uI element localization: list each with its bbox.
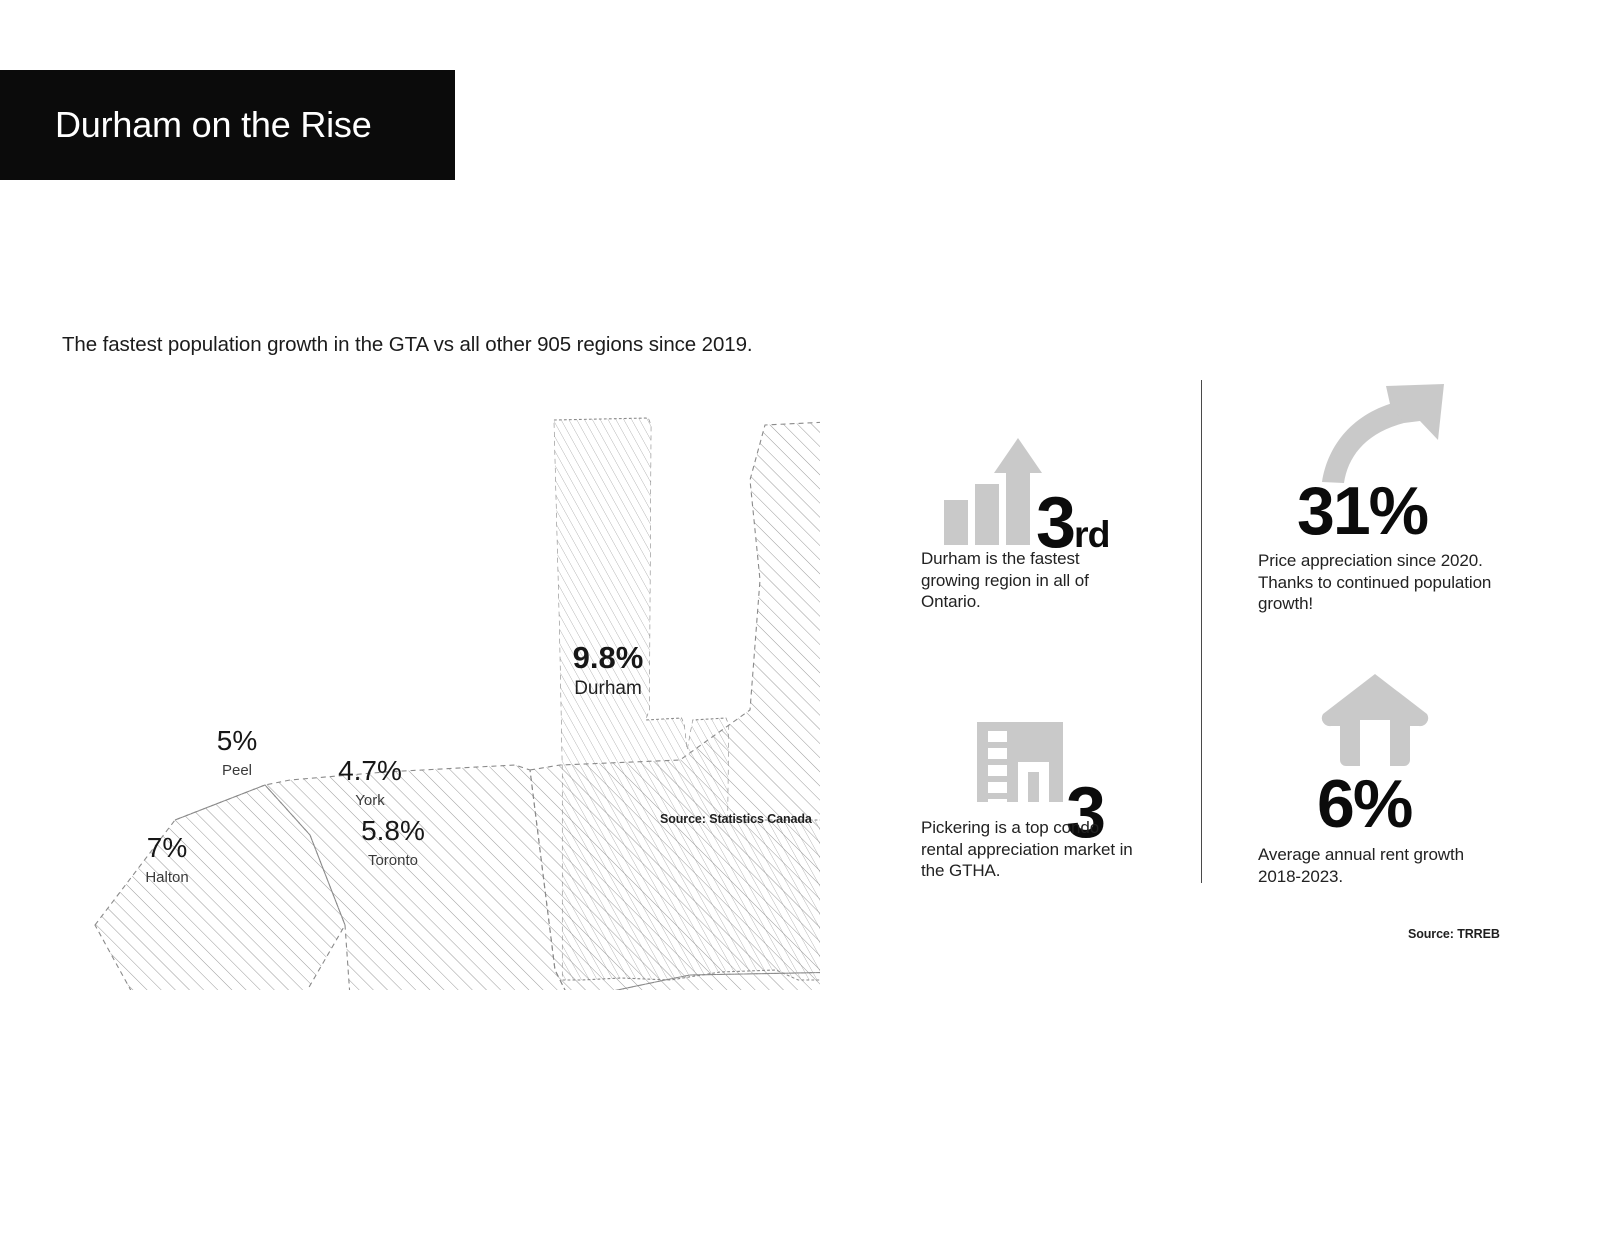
infographic-page: Durham on the Rise The fastest populatio… [0, 0, 1600, 1236]
stat-value-price-appreciation: 31% [1297, 477, 1427, 545]
stat-description-rent-growth: Average annual rent growth 2018-2023. [1258, 844, 1498, 887]
stat-description-fastest-growing: Durham is the fastest growing region in … [921, 548, 1136, 613]
gta-map: 4.7% York 9.8% Durham 5% Peel 5.8% Toron… [60, 380, 820, 990]
stats-vertical-divider [1201, 380, 1202, 883]
house-icon [1320, 672, 1430, 772]
stat-description-price-appreciation: Price appreciation since 2020. Thanks to… [1258, 550, 1498, 615]
map-label-york-value: 4.7% [338, 755, 402, 786]
stat-number-main: 31% [1297, 473, 1427, 549]
map-label-york-name: York [355, 792, 385, 809]
map-label-halton-name: Halton [145, 869, 188, 886]
gta-map-svg: 4.7% York 9.8% Durham 5% Peel 5.8% Toron… [60, 380, 820, 990]
bar-chart-arrow-up-icon [942, 438, 1042, 553]
map-source-label: Source: Statistics Canada [660, 812, 812, 826]
subtitle-text: The fastest population growth in the GTA… [62, 333, 752, 357]
stats-source-label: Source: TRREB [1408, 927, 1500, 941]
stat-description-condo-rental: Pickering is a top condo rental apprecia… [921, 817, 1141, 882]
title-banner: Durham on the Rise [0, 70, 455, 180]
building-icon [977, 722, 1067, 809]
map-label-toronto-name: Toronto [368, 852, 418, 869]
map-label-toronto-value: 5.8% [361, 815, 425, 846]
stat-value-rent-growth: 6% [1317, 770, 1411, 838]
map-label-halton-value: 7% [147, 832, 187, 863]
stat-number-main: 6% [1317, 766, 1411, 842]
map-label-peel-value: 5% [217, 725, 257, 756]
map-label-durham-value: 9.8% [573, 640, 644, 675]
map-label-durham-name: Durham [574, 678, 642, 699]
page-title: Durham on the Rise [0, 107, 372, 143]
map-label-peel-name: Peel [222, 762, 252, 779]
